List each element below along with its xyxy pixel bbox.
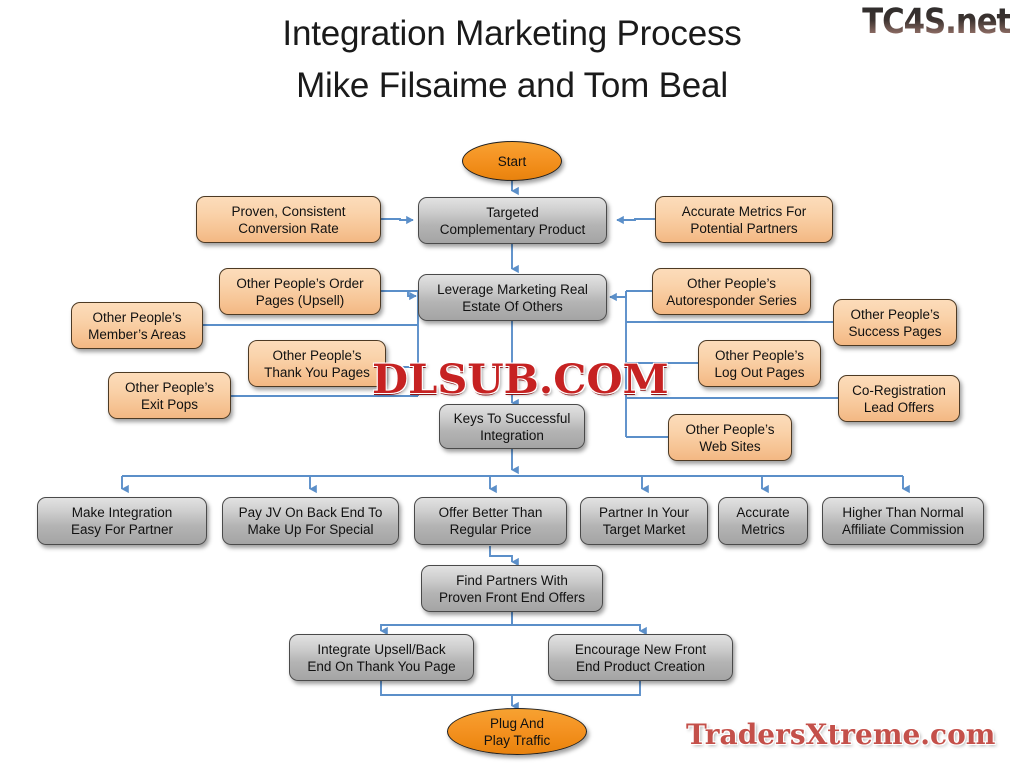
node-other-peoples-exit-pops-label: Other People’sExit Pops bbox=[114, 379, 225, 413]
edge-findpartners-to-integrate bbox=[381, 612, 512, 631]
node-encourage-new-front-end-product-creation[interactable]: Encourage New FrontEnd Product Creation bbox=[548, 634, 733, 681]
watermark-tradersxtreme: TradersXtreme.com bbox=[686, 718, 995, 751]
node-leverage-marketing-real-estate-label: Leverage Marketing RealEstate Of Others bbox=[424, 281, 601, 315]
node-integrate-upsell-back-end[interactable]: Integrate Upsell/BackEnd On Thank You Pa… bbox=[289, 634, 474, 681]
node-other-peoples-thank-you-pages[interactable]: Other People’sThank You Pages bbox=[248, 340, 386, 387]
node-other-peoples-autoresponder-series[interactable]: Other People’sAutoresponder Series bbox=[652, 268, 811, 315]
node-other-peoples-members-areas-label: Other People’sMember’s Areas bbox=[77, 309, 197, 343]
edge-proven-to-targeted bbox=[381, 219, 413, 220]
node-make-integration-easy-label: Make IntegrationEasy For Partner bbox=[43, 504, 201, 538]
node-partner-in-your-target-market-label: Partner In YourTarget Market bbox=[586, 504, 702, 538]
node-other-peoples-exit-pops[interactable]: Other People’sExit Pops bbox=[108, 372, 231, 419]
node-co-registration-lead-offers[interactable]: Co-RegistrationLead Offers bbox=[838, 375, 960, 422]
node-other-peoples-success-pages[interactable]: Other People’sSuccess Pages bbox=[833, 299, 957, 346]
node-keys-to-successful-integration-label: Keys To SuccessfulIntegration bbox=[445, 410, 579, 444]
node-other-peoples-autoresponder-series-label: Other People’sAutoresponder Series bbox=[658, 275, 805, 309]
node-offer-better-than-regular-price[interactable]: Offer Better ThanRegular Price bbox=[414, 497, 567, 545]
edge-findpartners-to-encourage bbox=[512, 612, 640, 631]
node-accurate-metrics-for-potential-partners-label: Accurate Metrics ForPotential Partners bbox=[661, 203, 827, 237]
node-integrate-upsell-back-end-label: Integrate Upsell/BackEnd On Thank You Pa… bbox=[295, 641, 468, 675]
node-other-peoples-members-areas[interactable]: Other People’sMember’s Areas bbox=[71, 302, 203, 349]
node-other-peoples-log-out-pages[interactable]: Other People’sLog Out Pages bbox=[698, 340, 821, 387]
node-accurate-metrics-label: AccurateMetrics bbox=[724, 504, 802, 538]
title-line-2: Mike Filsaime and Tom Beal bbox=[0, 60, 1024, 112]
node-proven-conversion-rate[interactable]: Proven, ConsistentConversion Rate bbox=[196, 196, 381, 243]
node-accurate-metrics[interactable]: AccurateMetrics bbox=[718, 497, 808, 545]
node-plug-and-play-traffic-label: Plug AndPlay Traffic bbox=[453, 715, 581, 749]
node-other-peoples-success-pages-label: Other People’sSuccess Pages bbox=[839, 306, 951, 340]
node-plug-and-play-traffic[interactable]: Plug AndPlay Traffic bbox=[447, 708, 587, 755]
node-proven-conversion-rate-label: Proven, ConsistentConversion Rate bbox=[202, 203, 375, 237]
node-other-peoples-order-pages-label: Other People’s OrderPages (Upsell) bbox=[225, 275, 375, 309]
node-start[interactable]: Start bbox=[462, 141, 562, 181]
node-other-peoples-order-pages[interactable]: Other People’s OrderPages (Upsell) bbox=[219, 268, 381, 315]
edge-right-bus-to-leverage bbox=[610, 291, 626, 297]
node-find-partners-with-proven-front-end-offers-label: Find Partners WithProven Front End Offer… bbox=[427, 572, 597, 606]
flowchart-canvas: Integration Marketing Process Mike Filsa… bbox=[0, 0, 1024, 768]
node-keys-to-successful-integration[interactable]: Keys To SuccessfulIntegration bbox=[439, 404, 585, 449]
node-other-peoples-log-out-pages-label: Other People’sLog Out Pages bbox=[704, 347, 815, 381]
node-targeted-complementary-product-label: TargetedComplementary Product bbox=[424, 204, 601, 238]
node-higher-than-normal-affiliate-commission-label: Higher Than NormalAffiliate Commission bbox=[828, 504, 978, 538]
node-encourage-new-front-end-product-creation-label: Encourage New FrontEnd Product Creation bbox=[554, 641, 727, 675]
watermark-dlsub: DLSUB.COM bbox=[372, 356, 669, 403]
tc4s-logo: TC4S.net bbox=[862, 2, 1010, 42]
node-find-partners-with-proven-front-end-offers[interactable]: Find Partners WithProven Front End Offer… bbox=[421, 565, 603, 612]
node-partner-in-your-target-market[interactable]: Partner In YourTarget Market bbox=[580, 497, 708, 545]
edge-metrics-to-targeted bbox=[617, 219, 655, 220]
node-leverage-marketing-real-estate[interactable]: Leverage Marketing RealEstate Of Others bbox=[418, 274, 607, 321]
node-accurate-metrics-for-potential-partners[interactable]: Accurate Metrics ForPotential Partners bbox=[655, 196, 833, 243]
edge-left-bus-to-leverage bbox=[408, 291, 416, 296]
node-offer-better-than-regular-price-label: Offer Better ThanRegular Price bbox=[420, 504, 561, 538]
watermark-dlsub-text: DLSUB.COM bbox=[372, 356, 669, 403]
node-pay-jv-on-back-end-label: Pay JV On Back End ToMake Up For Special bbox=[228, 504, 393, 538]
node-pay-jv-on-back-end[interactable]: Pay JV On Back End ToMake Up For Special bbox=[222, 497, 399, 545]
edge-offer-to-findpartners bbox=[490, 546, 512, 562]
edge-encourage-to-plug bbox=[512, 681, 640, 695]
node-higher-than-normal-affiliate-commission[interactable]: Higher Than NormalAffiliate Commission bbox=[822, 497, 984, 545]
node-start-label: Start bbox=[468, 153, 556, 170]
node-co-registration-lead-offers-label: Co-RegistrationLead Offers bbox=[844, 382, 954, 416]
node-make-integration-easy[interactable]: Make IntegrationEasy For Partner bbox=[37, 497, 207, 545]
node-targeted-complementary-product[interactable]: TargetedComplementary Product bbox=[418, 197, 607, 244]
node-other-peoples-web-sites[interactable]: Other People’sWeb Sites bbox=[668, 414, 792, 461]
node-other-peoples-thank-you-pages-label: Other People’sThank You Pages bbox=[254, 347, 380, 381]
node-other-peoples-web-sites-label: Other People’sWeb Sites bbox=[674, 421, 786, 455]
edge-integrate-to-plug bbox=[381, 681, 512, 706]
